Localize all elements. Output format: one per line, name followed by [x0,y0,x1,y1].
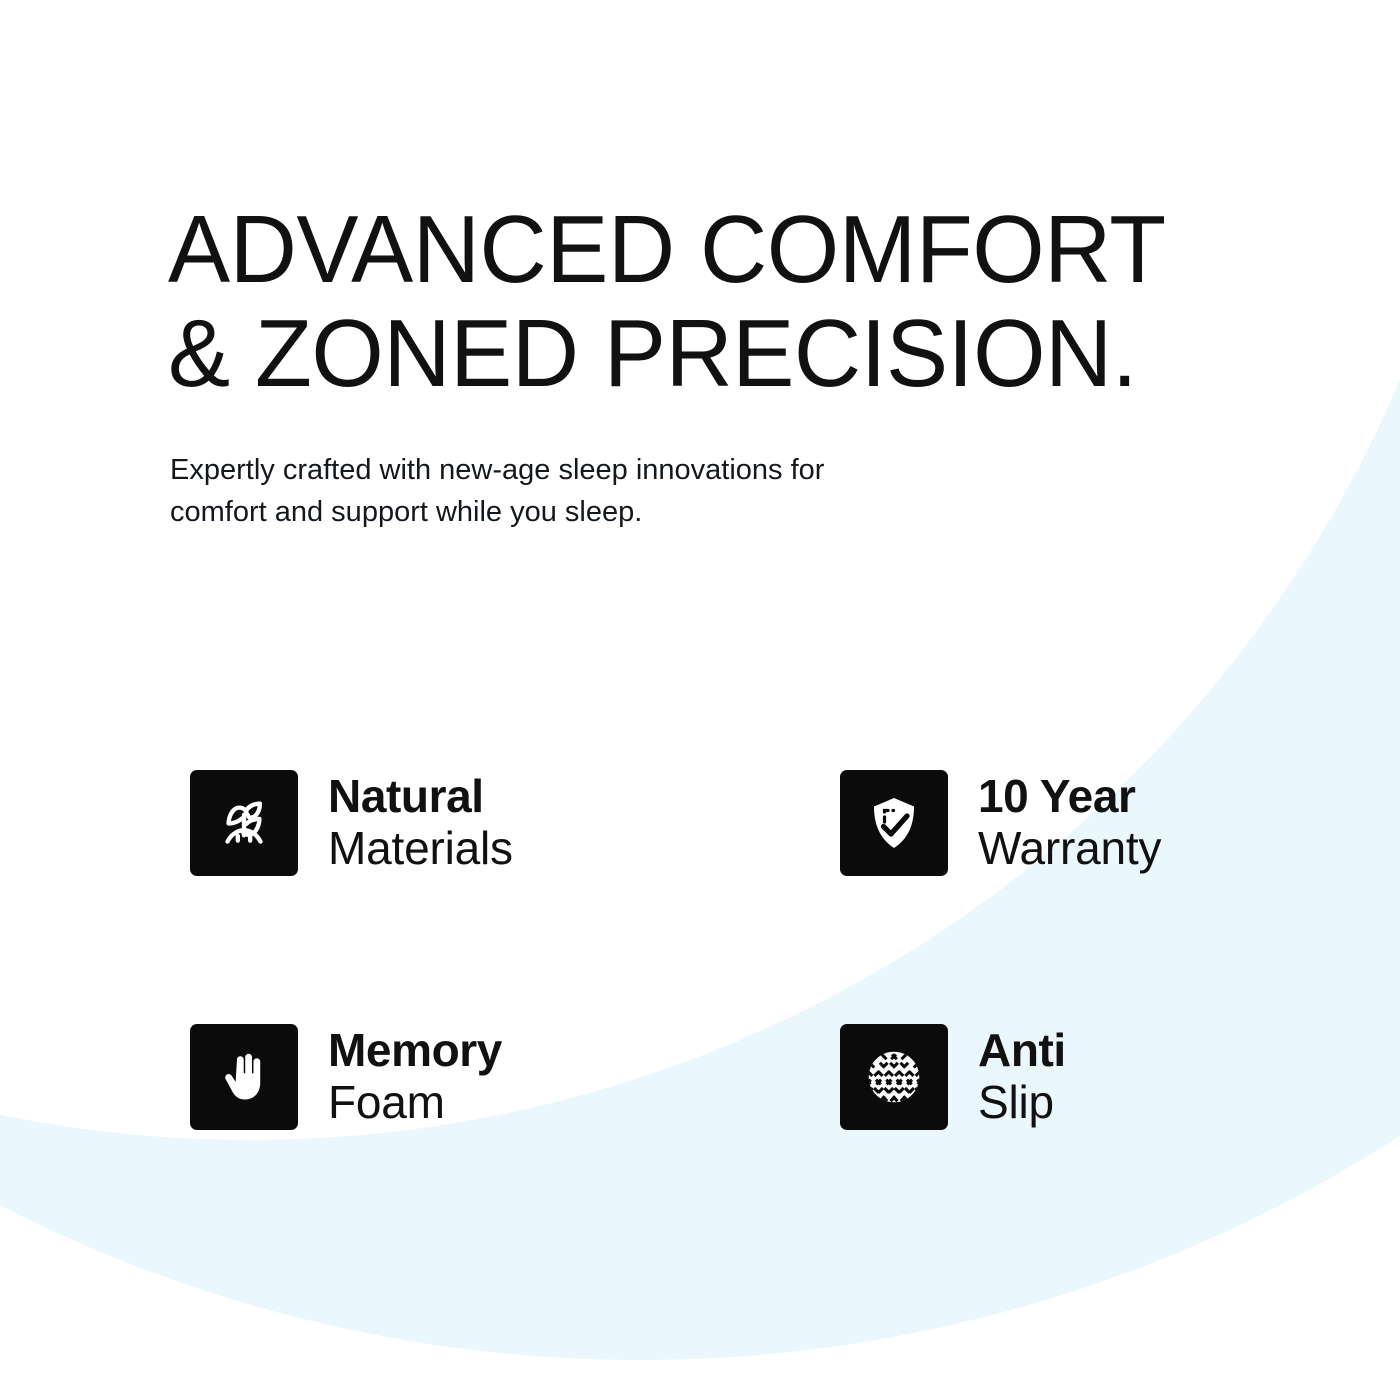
feature-subtitle: Materials [328,821,513,875]
feature-grid: Natural Materials [190,770,1250,1130]
page-subtitle: Expertly crafted with new-age sleep inno… [170,449,960,533]
feature-row: Natural Materials [190,770,1250,876]
feature-item-anti-slip: Anti Slip [720,1024,1250,1130]
promo-banner: ADVANCED COMFORT & ZONED PRECISION. Expe… [0,0,1400,1400]
feature-title: Natural [328,771,513,821]
feature-title: Anti [978,1025,1066,1075]
feature-row: Memory Foam [190,1024,1250,1130]
feature-title: 10 Year [978,771,1161,821]
page-title: ADVANCED COMFORT & ZONED PRECISION. [168,198,1254,406]
feature-label-group: Memory Foam [328,1025,502,1129]
feature-subtitle: Foam [328,1075,502,1129]
mesh-circle-icon [840,1024,948,1130]
feature-subtitle: Slip [978,1075,1066,1129]
feature-subtitle: Warranty [978,821,1161,875]
feature-label-group: 10 Year Warranty [978,771,1161,875]
feature-item-warranty: 10 Year Warranty [720,770,1250,876]
feature-label-group: Anti Slip [978,1025,1066,1129]
shield-check-icon [840,770,948,876]
sprout-icon [190,770,298,876]
feature-item-natural-materials: Natural Materials [190,770,720,876]
feature-item-memory-foam: Memory Foam [190,1024,720,1130]
feature-title: Memory [328,1025,502,1075]
feature-label-group: Natural Materials [328,771,513,875]
hand-palm-icon [190,1024,298,1130]
